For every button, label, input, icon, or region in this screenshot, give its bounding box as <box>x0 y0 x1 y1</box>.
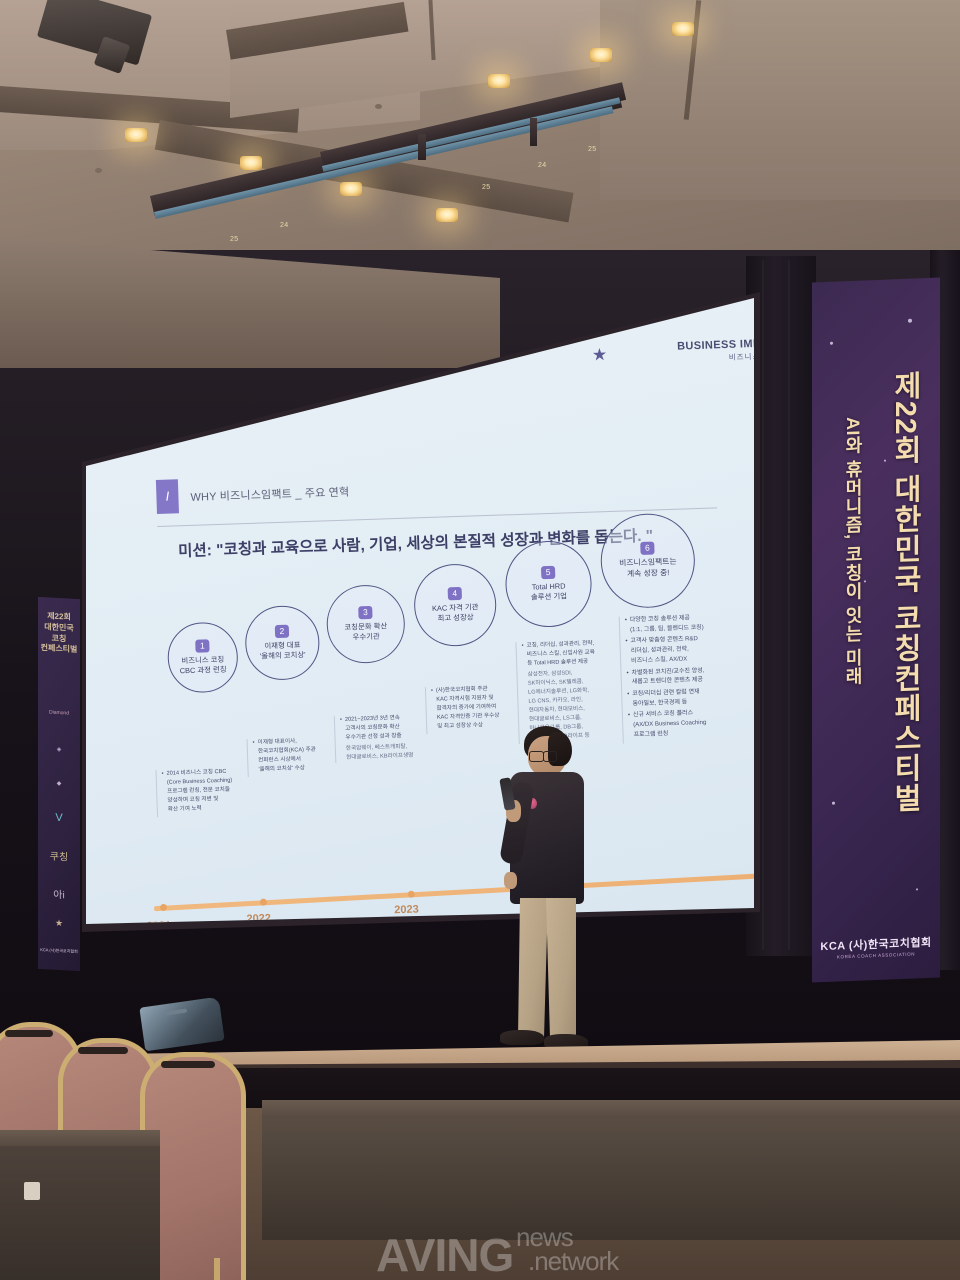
detail-bullet: 2014 비즈니스 코칭 CBC (Core Business Coaching… <box>161 767 248 815</box>
detail-bullet: (사)한국코치협회 주관 KAC 자격시험 지원자 및 합격자의 증가에 기여하… <box>431 684 518 732</box>
milestone-number: 3 <box>358 606 372 619</box>
detail-column: 2014 비즈니스 코칭 CBC (Core Business Coaching… <box>155 767 249 817</box>
detail-bullet: 2021~2023년 3년 연속 고객사의 코칭문화 확산 우수기관 선정 성과… <box>340 713 427 743</box>
truss-number: 24 <box>280 222 288 229</box>
milestone-label: 코칭문화 확산 우수기관 <box>340 621 391 643</box>
timeline-year: 2023 <box>394 904 419 917</box>
milestone-number: 6 <box>640 542 654 555</box>
milestone-number: 2 <box>275 625 289 638</box>
ceiling-downlight <box>672 22 694 36</box>
sponsor-banner-org: KCA (사)한국코치협회 <box>38 947 80 955</box>
smoke-detector-icon <box>95 168 102 173</box>
milestone-number: 4 <box>448 587 462 600</box>
speaker-shoe <box>500 1030 544 1045</box>
milestone-label: 이재형 대표 '올해의 코치상' <box>255 640 309 662</box>
speaker-trousers <box>518 898 548 1038</box>
star-icon: ★ <box>592 345 608 365</box>
detail-bullet: 다양한 코칭 솔루션 제공 (1:1, 그룹, 팀, 블렌디드 코칭) <box>625 613 746 636</box>
lighting-truss: 25 24 25 24 25 10 <box>150 140 630 250</box>
sponsor-logo: ◈ <box>38 745 80 754</box>
ceiling-downlight <box>488 74 510 88</box>
mission-statement: 미션: "코칭과 교육으로 사람, 기업, 세상의 본질적 성장과 변화를 돕는… <box>178 524 654 562</box>
business-impact-logo: ★ BUSINESS IMPACT 비즈니스임팩트 <box>614 337 754 367</box>
sponsor-tier-label: Diamond <box>38 709 80 717</box>
banquet-table-right <box>262 1108 960 1240</box>
truss-number: 24 <box>538 162 546 169</box>
watermark-brand: AVING <box>376 1228 513 1280</box>
milestone-circle: 3 코칭문화 확산 우수기관 <box>325 584 406 665</box>
watermark-domain: .network <box>528 1246 618 1277</box>
sponsor-logo: ◆ <box>38 779 80 788</box>
banquet-table-left-top <box>0 1130 160 1146</box>
sponsor-logo: ★ <box>38 917 80 930</box>
speaker <box>482 726 632 1072</box>
milestone-label: 비즈니스임팩트는 계속 성장 중! <box>615 557 681 580</box>
banquet-table-left <box>0 1138 160 1280</box>
milestone-number: 5 <box>541 566 555 579</box>
detail-column: 다양한 코칭 솔루션 제공 (1:1, 그룹, 팀, 블렌디드 코칭) 고객사 … <box>619 613 749 744</box>
detail-subtext: 한국암웨이, 베스트캐피탈, 현대글로비스, KB라이프생명 <box>341 742 428 763</box>
banner-title-sub: AI와 휴머니즘, 코칭이 잇는 미래 <box>840 416 866 686</box>
detail-column: 2021~2023년 3년 연속 고객사의 코칭문화 확산 우수기관 선정 성과… <box>334 713 428 763</box>
sponsor-logo: 쿠칭 <box>38 847 80 864</box>
speaker-hand-lower <box>504 872 517 889</box>
sponsor-logo: V <box>38 811 80 825</box>
milestone-circle: 4 KAC 자격 기관 최고 성장상 <box>413 563 498 648</box>
event-banner-right: 제22회 대한민국 코칭컨페스티벌 AI와 휴머니즘, 코칭이 잇는 미래 KC… <box>812 278 940 983</box>
milestone-circle: 6 비즈니스임팩트는 계속 성장 중! <box>599 512 696 609</box>
speaker-glasses <box>543 751 557 762</box>
photo-scene: 25 24 25 24 25 10 제22회 대한민국 코칭컨페스티벌 AI와 … <box>0 0 960 1280</box>
banquet-table-top <box>262 1100 960 1118</box>
milestone-label: Total HRD 솔루션 기업 <box>526 581 571 602</box>
detail-column: 이재형 대표이사, 한국코치협회(KCA) 주관 컨퍼런스 시상에서 '올해의 … <box>247 736 338 777</box>
table-skirt-clip <box>24 1182 40 1200</box>
smoke-detector-icon <box>375 104 382 109</box>
milestone-circle: 1 비즈니스 코칭 CBC 과정 런칭 <box>167 621 239 693</box>
truss-number: 25 <box>230 236 238 243</box>
milestone-circle: 2 이재형 대표 '올해의 코치상' <box>244 605 320 681</box>
section-chip: I <box>156 479 179 514</box>
detail-bullet: 신규 서비스 코칭 플러스 (AX/DX Business Coaching 프… <box>628 708 749 741</box>
detail-bullet: 코칭/리더십 관련 칼럼 연재 동아일보, 한국경제 등 <box>627 687 748 710</box>
speaker-trousers <box>546 898 578 1038</box>
ceiling-downlight <box>125 128 147 142</box>
milestone-number: 1 <box>195 639 209 652</box>
truss-number: 25 <box>482 184 490 191</box>
detail-bullet: 코칭, 리더십, 성과관리, 전략, 비즈니스 스킬, 신입사원 교육 등 To… <box>521 639 616 669</box>
banner-title-main: 제22회 대한민국 코칭컨페스티벌 <box>884 370 926 814</box>
ceiling-downlight <box>590 48 612 62</box>
speaker-glasses <box>529 751 544 762</box>
kca-logo: KCA (사)한국코치협회 KOREA COACH ASSOCIATION <box>812 934 940 961</box>
sponsor-banner-left: 제22회 대한민국 코칭 컨페스티벌 Diamond ◈ ◆ V 쿠칭 아i ★… <box>38 597 80 971</box>
section-title: WHY 비즈니스임팩트 _ 주요 연혁 <box>190 484 349 505</box>
detail-bullet: 고객사 맞춤형 콘텐츠 R&D 리더십, 성과관리, 전략, 비즈니스 스킬, … <box>625 634 746 667</box>
truss-number: 25 <box>588 146 596 153</box>
milestone-label: KAC 자격 기관 최고 성장상 <box>428 602 483 624</box>
sponsor-logo: 아i <box>38 885 80 902</box>
timeline-bar <box>154 873 754 912</box>
sponsor-banner-title: 제22회 대한민국 코칭 컨페스티벌 <box>38 611 80 656</box>
detail-bullet: 차별화된 코치진/교수진 양성, 새롭고 트렌디한 콘텐츠 제공 <box>626 665 747 688</box>
milestone-label: 비즈니스 코칭 CBC 과정 런칭 <box>175 655 231 677</box>
detail-bullet: 이재형 대표이사, 한국코치협회(KCA) 주관 컨퍼런스 시상에서 '올해의 … <box>253 736 338 775</box>
milestone-circle: 5 Total HRD 솔루션 기업 <box>504 540 593 629</box>
